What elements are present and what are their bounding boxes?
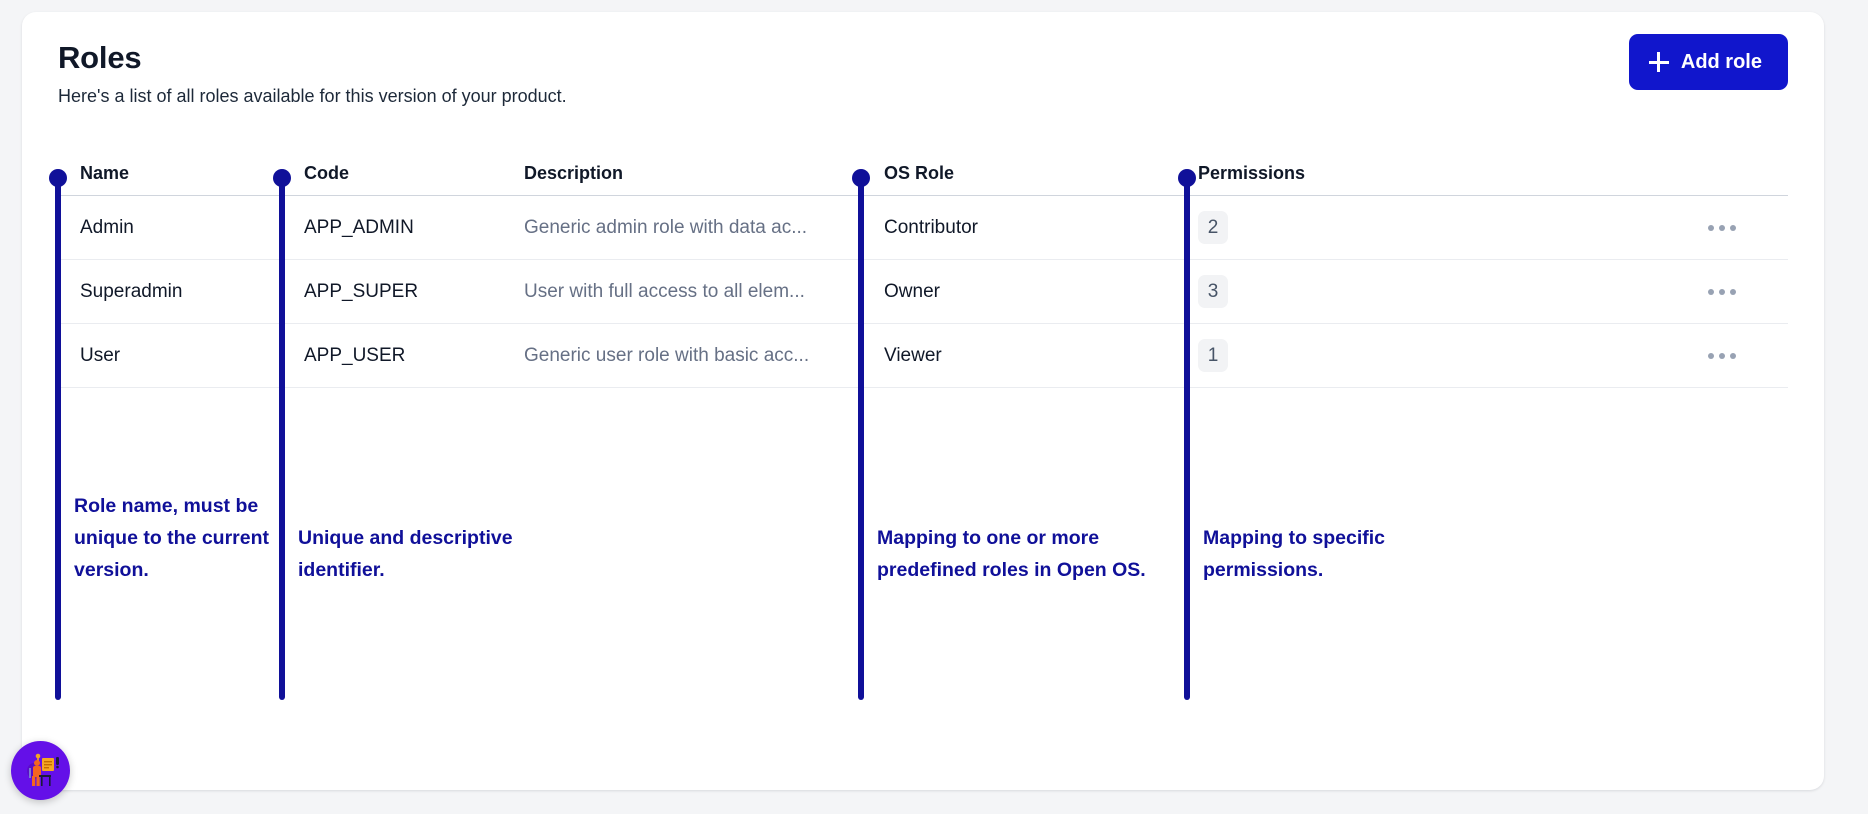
cell-description: User with full access to all elem...: [524, 281, 868, 303]
table-row[interactable]: User APP_USER Generic user role with bas…: [58, 324, 1788, 388]
cell-description: Generic admin role with data ac...: [524, 217, 868, 239]
column-header-code[interactable]: Code: [286, 163, 524, 184]
annotation-text-code: Unique and descriptive identifier.: [298, 522, 548, 586]
cell-os-role: Contributor: [868, 217, 1184, 239]
column-header-name[interactable]: Name: [58, 163, 286, 184]
annotation-line-permissions: [1184, 178, 1190, 700]
plus-icon: [1649, 52, 1669, 72]
ellipsis-icon[interactable]: [1702, 283, 1742, 301]
cell-code: APP_ADMIN: [286, 217, 524, 239]
cell-os-role: Viewer: [868, 345, 1184, 367]
roles-table: Name Code Description OS Role Permission…: [58, 152, 1788, 388]
cell-os-role: Owner: [868, 281, 1184, 303]
permissions-badge: 1: [1198, 339, 1228, 372]
floating-help-widget[interactable]: [11, 741, 70, 800]
annotation-text-os-role: Mapping to one or more predefined roles …: [877, 522, 1177, 586]
screen: Roles Here's a list of all roles availab…: [0, 0, 1868, 814]
cell-permissions: 3: [1184, 275, 1614, 308]
annotation-line-name: [55, 178, 61, 700]
page-title: Roles: [58, 40, 141, 76]
roles-card: Roles Here's a list of all roles availab…: [22, 12, 1824, 790]
cell-code: APP_SUPER: [286, 281, 524, 303]
annotation-text-permissions: Mapping to specific permissions.: [1203, 522, 1453, 586]
person-at-desk-illustration: [21, 751, 61, 791]
column-header-os-role[interactable]: OS Role: [868, 163, 1184, 184]
ellipsis-icon[interactable]: [1702, 219, 1742, 237]
cell-description: Generic user role with basic acc...: [524, 345, 868, 367]
cell-permissions: 2: [1184, 211, 1614, 244]
cell-actions: [1614, 219, 1788, 237]
ellipsis-icon[interactable]: [1702, 347, 1742, 365]
column-header-description[interactable]: Description: [524, 163, 868, 184]
cell-name: User: [58, 345, 286, 367]
permissions-badge: 2: [1198, 211, 1228, 244]
add-role-button[interactable]: Add role: [1629, 34, 1788, 90]
add-role-button-label: Add role: [1681, 51, 1762, 74]
page-subtitle: Here's a list of all roles available for…: [58, 86, 567, 107]
annotation-text-name: Role name, must be unique to the current…: [74, 490, 284, 586]
table-row[interactable]: Superadmin APP_SUPER User with full acce…: [58, 260, 1788, 324]
column-header-permissions[interactable]: Permissions: [1184, 163, 1614, 184]
cell-actions: [1614, 347, 1788, 365]
cell-name: Admin: [58, 217, 286, 239]
permissions-badge: 3: [1198, 275, 1228, 308]
table-header-row: Name Code Description OS Role Permission…: [58, 152, 1788, 196]
annotation-line-os-role: [858, 178, 864, 700]
cell-permissions: 1: [1184, 339, 1614, 372]
cell-actions: [1614, 283, 1788, 301]
annotation-line-code: [279, 178, 285, 700]
table-row[interactable]: Admin APP_ADMIN Generic admin role with …: [58, 196, 1788, 260]
cell-code: APP_USER: [286, 345, 524, 367]
cell-name: Superadmin: [58, 281, 286, 303]
